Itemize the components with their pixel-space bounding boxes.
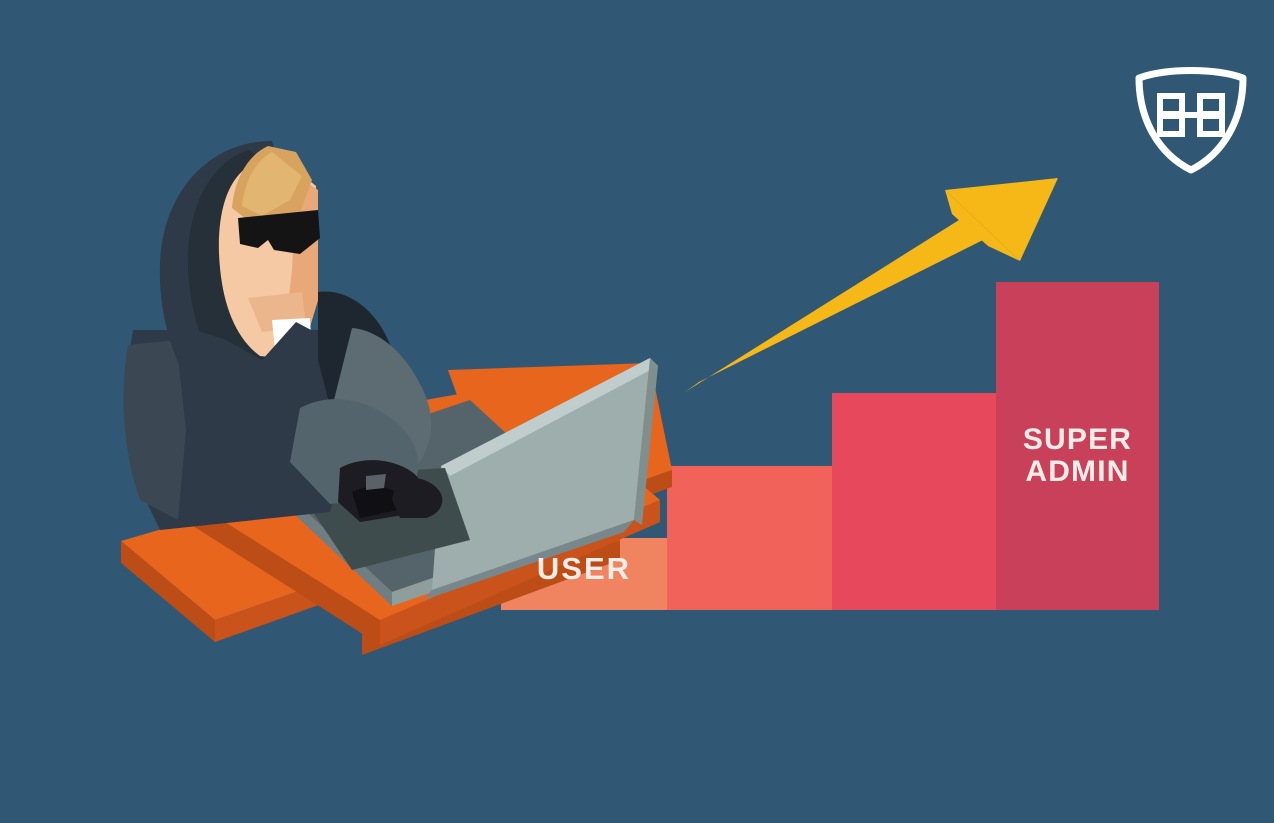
illustration-canvas: USER SUPER ADMIN [0, 0, 1274, 823]
bar-second [667, 466, 832, 610]
logo-square-left-bottom [1160, 116, 1182, 134]
scene-artwork [0, 0, 1274, 823]
bar-super-admin [996, 282, 1159, 610]
shield-outline [1139, 71, 1243, 171]
logo-square-right-bottom [1200, 116, 1222, 134]
logo-mark-squares [1160, 96, 1222, 134]
logo-square-left-top [1160, 96, 1182, 114]
logo-square-right-top [1200, 96, 1222, 114]
shield-logo [1131, 62, 1251, 174]
bar-third [832, 393, 996, 610]
hacker-glove-highlight [366, 474, 386, 490]
